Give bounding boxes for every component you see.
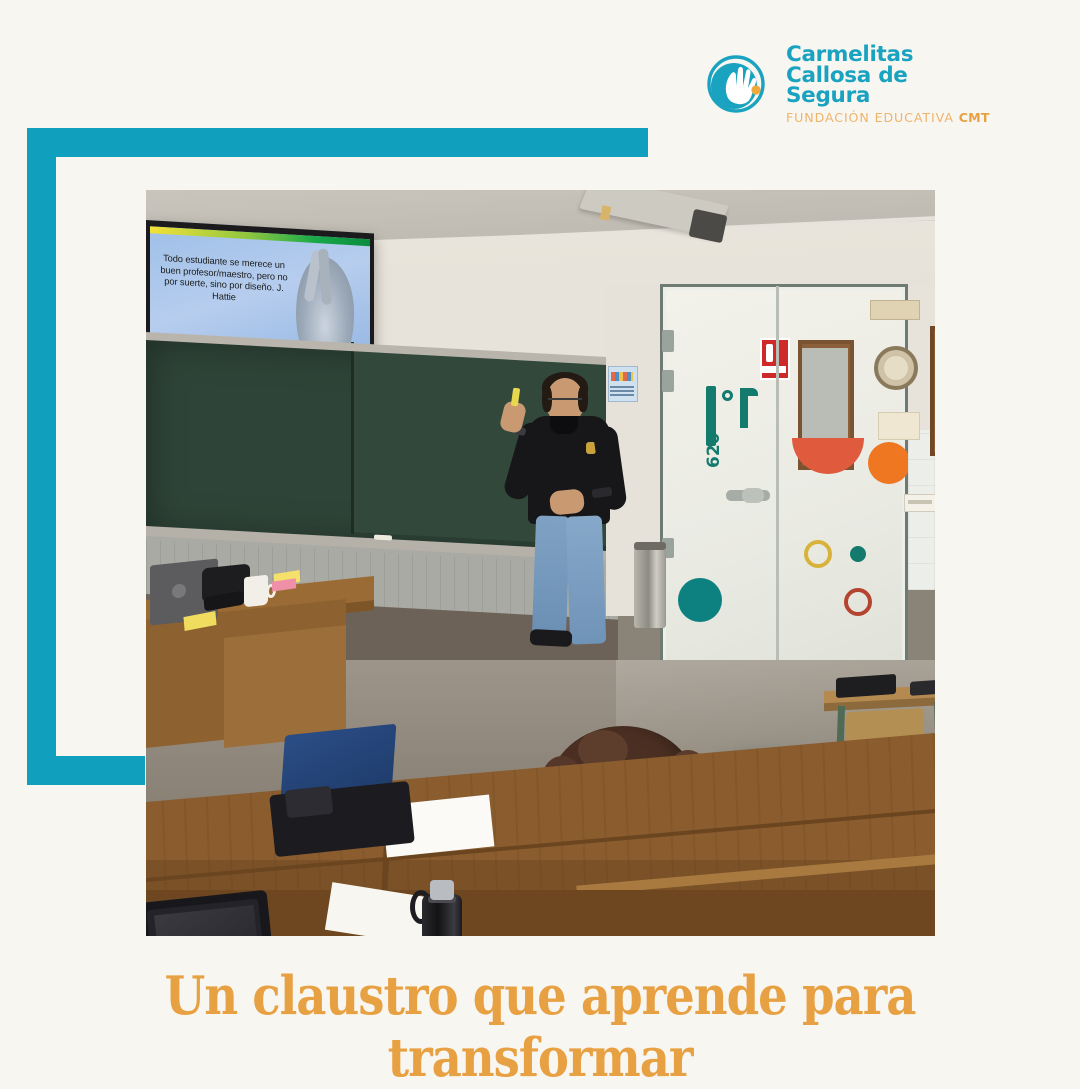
brand-logo-text: Carmelitas Callosa de Segura FUNDACIÓN E… bbox=[786, 43, 990, 125]
chalkboard-divider bbox=[351, 342, 354, 534]
teacher-desk-panel bbox=[224, 625, 346, 748]
wall-poster-colors bbox=[611, 372, 633, 381]
carmelitas-hand-circle-icon bbox=[702, 48, 774, 120]
glass-graphic-teal-circle bbox=[678, 578, 722, 622]
glass-door-mullion bbox=[776, 286, 779, 688]
classroom-photo: Todo estudiante se merece un buen profes… bbox=[146, 190, 935, 936]
presenter-glasses bbox=[548, 398, 582, 406]
fire-extinguisher-sign bbox=[760, 338, 790, 380]
wall-plaque bbox=[870, 300, 920, 320]
slide-quote-text: Todo estudiante se merece un buen profes… bbox=[160, 253, 288, 307]
glass-graphic-l-arm bbox=[740, 388, 758, 396]
frame-bottom-bar bbox=[27, 756, 145, 785]
glass-graphic-ring bbox=[722, 390, 733, 401]
coffee-mug bbox=[244, 575, 268, 608]
corridor-wooden-door bbox=[930, 326, 935, 456]
side-desk-tablet bbox=[836, 674, 896, 698]
chalk-piece bbox=[374, 535, 392, 541]
door-lock[interactable] bbox=[742, 488, 764, 503]
presenter-jeans-left bbox=[532, 515, 570, 638]
side-desk-phone bbox=[910, 678, 935, 696]
glass-graphic-red-ring bbox=[844, 588, 872, 616]
extinguisher-sign-text bbox=[762, 366, 786, 373]
wall-poster-lines bbox=[610, 386, 634, 396]
trash-bin bbox=[634, 546, 666, 628]
glass-graphic-yellow-ring bbox=[804, 540, 832, 568]
brand-name-line2: Callosa de Segura bbox=[786, 66, 990, 107]
presenter-shoe bbox=[530, 629, 573, 647]
brand-tagline-cmt: CMT bbox=[959, 110, 990, 125]
glass-graphic-orange-circle bbox=[868, 442, 910, 484]
presenter-jeans-right bbox=[566, 515, 606, 644]
trash-bin-lid bbox=[634, 542, 666, 550]
brand-logo: Carmelitas Callosa de Segura FUNDACIÓN E… bbox=[702, 46, 972, 122]
frame-left-bar bbox=[27, 128, 56, 785]
presenter-lower-hand bbox=[549, 488, 585, 515]
poster-caption: Un claustro que aprende para transformar bbox=[65, 965, 1015, 1089]
door-number-label: 620 bbox=[704, 442, 726, 468]
thermos-cap bbox=[430, 880, 454, 900]
glass-graphic-teal-dot bbox=[850, 546, 866, 562]
wall-socket-slots bbox=[908, 500, 932, 504]
brand-tagline: FUNDACIÓN EDUCATIVA CMT bbox=[786, 110, 990, 125]
brand-tagline-text: FUNDACIÓN EDUCATIVA bbox=[786, 110, 959, 125]
poster-canvas: Carmelitas Callosa de Segura FUNDACIÓN E… bbox=[0, 0, 1080, 1080]
presenter-collar bbox=[550, 416, 578, 434]
frame-top-bar bbox=[27, 128, 648, 157]
door-hinge-middle bbox=[662, 370, 674, 392]
extinguisher-pictogram bbox=[766, 344, 773, 362]
wall-plaque-2 bbox=[878, 412, 920, 440]
wall-clock-face bbox=[884, 356, 908, 380]
door-hinge-top bbox=[662, 330, 674, 352]
tablet-case-pattern bbox=[285, 786, 334, 819]
